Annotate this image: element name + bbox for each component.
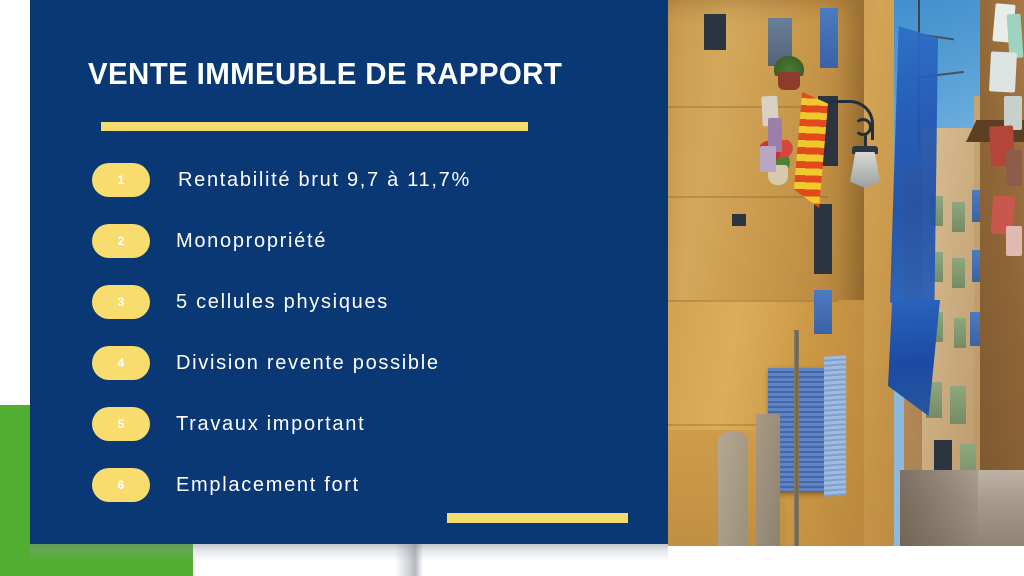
list-item-label: Monopropriété [176, 230, 327, 253]
list-item-number-badge: 1 [92, 163, 150, 197]
photo-window [704, 14, 726, 50]
photo-doorway [756, 414, 780, 546]
photo-window [820, 8, 838, 68]
photo-window [952, 202, 965, 232]
photo-laundry [1006, 226, 1022, 256]
photo-laundry [1006, 150, 1022, 186]
photo-window [950, 386, 966, 424]
list-item[interactable]: 4 Division revente possible [92, 346, 440, 380]
photo-window [732, 214, 746, 226]
photo-drainpipe [794, 330, 799, 546]
list-item-number-badge: 3 [92, 285, 150, 319]
photo-window [952, 258, 965, 288]
list-item-label: Travaux important [176, 413, 365, 436]
list-item-label: Rentabilité brut 9,7 à 11,7% [178, 169, 471, 192]
list-item[interactable]: 1 Rentabilité brut 9,7 à 11,7% [92, 163, 471, 197]
blue-content-panel: VENTE IMMEUBLE DE RAPPORT 1 Rentabilité … [30, 0, 668, 544]
list-item-label: 5 cellules physiques [176, 291, 389, 314]
photo-laundry [989, 51, 1017, 92]
list-item[interactable]: 3 5 cellules physiques [92, 285, 389, 319]
street-lamp-lantern [850, 152, 880, 188]
list-item[interactable]: 5 Travaux important [92, 407, 365, 441]
photo-window [814, 290, 832, 334]
list-item-number-badge: 6 [92, 468, 150, 502]
photo-flower-pot [778, 72, 800, 90]
list-item[interactable]: 6 Emplacement fort [92, 468, 360, 502]
feature-list: 1 Rentabilité brut 9,7 à 11,7% 2 Monopro… [30, 0, 668, 544]
list-item-label: Division revente possible [176, 352, 440, 375]
list-item-label: Emplacement fort [176, 474, 360, 497]
street-lamp-scroll [854, 118, 872, 136]
photo-blue-shutter-leaf [824, 355, 846, 497]
panel-shadow-vertical [395, 543, 423, 576]
photo-street-shadow [900, 470, 978, 546]
photo-doorway [718, 432, 748, 546]
photo-wall-seam [668, 300, 838, 302]
list-item-number-badge: 4 [92, 346, 150, 380]
street-photo [668, 0, 1024, 546]
list-item[interactable]: 2 Monopropriété [92, 224, 327, 258]
slide-canvas: VENTE IMMEUBLE DE RAPPORT 1 Rentabilité … [0, 0, 1024, 576]
photo-window [954, 318, 966, 348]
bottom-accent-rule [447, 513, 628, 523]
photo-window [814, 204, 832, 274]
photo-laundry [760, 146, 776, 172]
photo-wall-seam [668, 106, 818, 108]
list-item-number-badge: 2 [92, 224, 150, 258]
list-item-number-badge: 5 [92, 407, 150, 441]
